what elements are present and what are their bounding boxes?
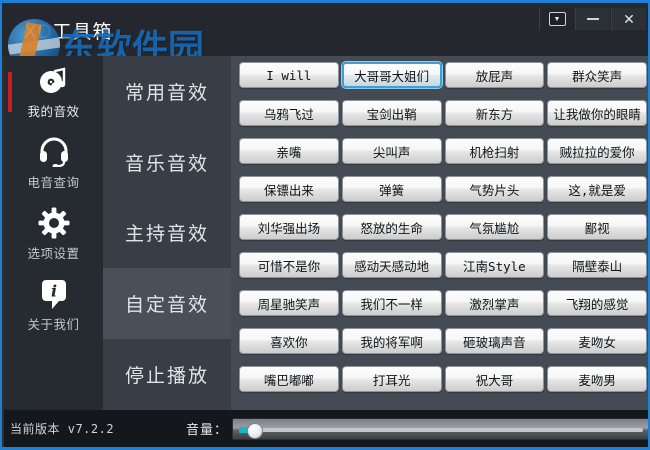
minimize-icon — [587, 18, 599, 20]
grid-row: 刘华强出场 怒放的生命 气氛尴尬 鄙视 — [239, 214, 650, 252]
sound-button[interactable]: 可惜不是你 — [239, 252, 339, 278]
sound-button[interactable]: 贼拉拉的爱你 — [547, 138, 647, 164]
category-music-sounds[interactable]: 音乐音效 — [103, 127, 231, 198]
grid-row: I will 大哥哥大姐们 放屁声 群众笑声 — [239, 62, 650, 100]
sound-button[interactable]: I will — [239, 62, 339, 88]
sound-button[interactable]: 大哥哥大姐们 — [342, 62, 442, 88]
close-button[interactable]: ✕ — [611, 8, 646, 30]
svg-text:i: i — [50, 281, 56, 300]
close-icon: ✕ — [623, 12, 635, 26]
sound-button[interactable]: 嘴巴嘟嘟 — [239, 366, 339, 392]
status-bar: 当前版本 v7.2.2 音量： — [4, 410, 650, 447]
category-label: 停止播放 — [125, 361, 209, 388]
sidebar: 我的音效 电音查询 — [4, 56, 103, 410]
gear-icon — [37, 206, 71, 240]
sidebar-item-label: 选项设置 — [27, 243, 79, 262]
sound-button[interactable]: 激烈掌声 — [445, 290, 545, 316]
category-label: 主持音效 — [125, 219, 209, 246]
window-title: XD工具箱 — [24, 17, 112, 44]
sidebar-item-voice-lookup[interactable]: 电音查询 — [4, 127, 103, 198]
sound-button[interactable]: 砸玻璃声音 — [445, 328, 545, 354]
sound-button[interactable]: 飞翔的感觉 — [547, 290, 647, 316]
sound-button[interactable]: 麦吻男 — [547, 366, 647, 392]
category-host-sounds[interactable]: 主持音效 — [103, 198, 231, 269]
sound-button[interactable]: 隔壁泰山 — [547, 252, 647, 278]
sound-button[interactable]: 打耳光 — [342, 366, 442, 392]
sidebar-item-label: 关于我们 — [27, 314, 79, 333]
category-custom-sounds[interactable]: 自定音效 — [103, 268, 231, 339]
application-window: XD工具箱 东软件园 www.pc0359.cn ▼ ✕ — [0, 0, 650, 450]
sound-button[interactable]: 气氛尴尬 — [445, 214, 545, 240]
category-column: 常用音效 音乐音效 主持音效 自定音效 停止播放 — [103, 56, 231, 410]
sound-button[interactable]: 江南Style — [445, 252, 545, 278]
sound-button[interactable]: 鄙视 — [547, 214, 647, 240]
sound-button[interactable]: 机枪扫射 — [445, 138, 545, 164]
title-bar: XD工具箱 东软件园 www.pc0359.cn ▼ ✕ — [2, 0, 650, 56]
sidebar-item-settings[interactable]: 选项设置 — [4, 198, 103, 269]
sound-button[interactable]: 气势片头 — [445, 176, 545, 202]
grid-row: 喜欢你 我的将军啊 砸玻璃声音 麦吻女 — [239, 328, 650, 366]
category-stop-playback[interactable]: 停止播放 — [103, 339, 231, 410]
headset-icon — [37, 135, 71, 169]
sound-button[interactable]: 放屁声 — [445, 62, 545, 88]
category-common-sounds[interactable]: 常用音效 — [103, 56, 231, 127]
version-text: 当前版本 v7.2.2 — [10, 420, 114, 437]
sound-button[interactable]: 我们不一样 — [342, 290, 442, 316]
volume-slider[interactable] — [232, 418, 650, 440]
slider-thumb[interactable] — [247, 423, 263, 439]
grid-row: 亲嘴 尖叫声 机枪扫射 贼拉拉的爱你 — [239, 138, 650, 176]
volume-label: 音量： — [186, 419, 228, 438]
options-box-button[interactable]: ▼ — [539, 8, 574, 30]
sound-button[interactable]: 亲嘴 — [239, 138, 339, 164]
category-label: 自定音效 — [125, 290, 209, 317]
category-label: 音乐音效 — [125, 149, 209, 176]
cd-music-icon — [37, 64, 71, 98]
sound-button[interactable]: 这,就是爱 — [547, 176, 647, 202]
grid-row: 嘴巴嘟嘟 打耳光 祝大哥 麦吻男 — [239, 366, 650, 404]
grid-row: 可惜不是你 感动天感动地 江南Style 隔壁泰山 — [239, 252, 650, 290]
active-indicator — [8, 72, 12, 112]
sound-button[interactable]: 怒放的生命 — [342, 214, 442, 240]
grid-row: 保镖出来 弹簧 气势片头 这,就是爱 — [239, 176, 650, 214]
sound-button[interactable]: 喜欢你 — [239, 328, 339, 354]
sound-button[interactable]: 让我做你的眼睛 — [547, 100, 647, 126]
sound-button[interactable]: 乌鸦飞过 — [239, 100, 339, 126]
chevron-down-icon: ▼ — [549, 12, 566, 26]
sidebar-item-label: 我的音效 — [27, 101, 79, 120]
sound-button-grid: I will 大哥哥大姐们 放屁声 群众笑声 乌鸦飞过 宝剑出鞘 新东方 让我做… — [231, 56, 650, 410]
sound-button[interactable]: 麦吻女 — [547, 328, 647, 354]
sound-button[interactable]: 周星驰笑声 — [239, 290, 339, 316]
sound-button[interactable]: 刘华强出场 — [239, 214, 339, 240]
sidebar-item-my-sounds[interactable]: 我的音效 — [4, 56, 103, 127]
sound-button[interactable]: 群众笑声 — [547, 62, 647, 88]
sound-button[interactable]: 感动天感动地 — [342, 252, 442, 278]
sound-button[interactable]: 保镖出来 — [239, 176, 339, 202]
sound-button[interactable]: 新东方 — [445, 100, 545, 126]
minimize-button[interactable] — [575, 8, 610, 30]
sidebar-item-label: 电音查询 — [27, 172, 79, 191]
sound-button[interactable]: 我的将军啊 — [342, 328, 442, 354]
sound-button[interactable]: 祝大哥 — [445, 366, 545, 392]
sidebar-item-about[interactable]: i 关于我们 — [4, 269, 103, 340]
category-label: 常用音效 — [125, 78, 209, 105]
sound-button[interactable]: 弹簧 — [342, 176, 442, 202]
info-bubble-icon: i — [37, 277, 71, 311]
sound-button[interactable]: 宝剑出鞘 — [342, 100, 442, 126]
slider-track — [239, 428, 643, 432]
window-controls: ▼ ✕ — [538, 7, 646, 31]
sound-button[interactable]: 尖叫声 — [342, 138, 442, 164]
grid-row: 周星驰笑声 我们不一样 激烈掌声 飞翔的感觉 — [239, 290, 650, 328]
grid-row: 乌鸦飞过 宝剑出鞘 新东方 让我做你的眼睛 — [239, 100, 650, 138]
